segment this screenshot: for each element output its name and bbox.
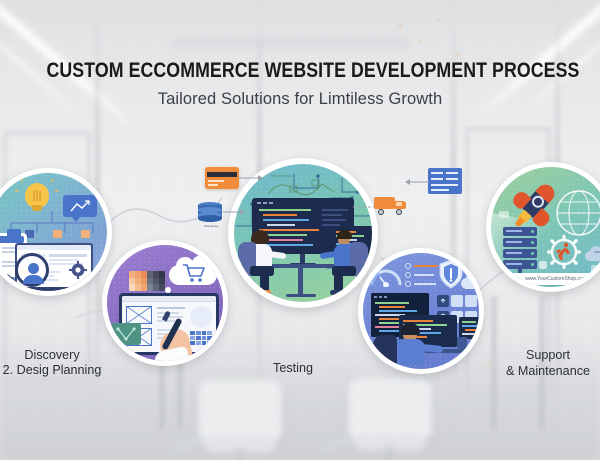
design-planning-illustration [107, 245, 223, 361]
small-tile-icon [591, 265, 599, 273]
delivery-truck-icon [374, 196, 408, 216]
chart-glyph-icon [69, 199, 91, 213]
website-url-text: www.YourCustomShop.com [525, 276, 587, 282]
tester-hair-icon [400, 323, 420, 335]
label-design-planning: 2. Desig Planning [0, 363, 104, 379]
desk-leg-icon [298, 268, 303, 296]
support-maintenance-illustration: www.YourCustomShop.com [491, 167, 600, 287]
cloud-icon [585, 245, 600, 261]
side-monitor-icon [459, 317, 479, 339]
color-swatch-icon [129, 271, 165, 291]
page-title: CUSTOM ECCOMMERCE WEBSITE DEVELOPMENT PR… [46, 58, 553, 84]
gear-runner-icon [547, 235, 581, 269]
checklist-icon [405, 263, 439, 289]
server-rack-icon [503, 227, 537, 271]
label-support-line-1: Support [498, 348, 598, 364]
cloud-upload-icon [461, 271, 479, 289]
form-card-icon [428, 168, 462, 194]
lightbulb-base-icon [32, 205, 42, 211]
heading-block: CUSTOM ECCOMMERCE WEBSITE DEVELOPMENT PR… [0, 58, 600, 110]
chair-base-icon [236, 292, 258, 295]
step-circle-design-planning[interactable] [102, 240, 228, 366]
desk-foot-icon [286, 294, 316, 297]
page-subtitle: Tailored Solutions for Limtiless Growth [0, 89, 600, 110]
connector-line-truck [352, 202, 376, 212]
label-testing-line-1: Testing [250, 361, 336, 377]
small-tile-icon [499, 211, 509, 218]
magnifier-icon [15, 253, 49, 287]
credit-card-icon [205, 167, 239, 189]
website-url-bar[interactable]: www.YourCustomShop.com [509, 273, 600, 285]
testing-illustration [363, 253, 479, 369]
shield-icon [439, 259, 463, 289]
pen-tool-icon [111, 323, 141, 345]
development-illustration [234, 164, 372, 302]
chat-bubble-icon [63, 195, 97, 217]
step-circle-testing[interactable] [358, 248, 484, 374]
label-discovery-line-1: Discovery [0, 348, 104, 364]
thought-bubble-icon [169, 255, 217, 287]
small-tile-icon [539, 261, 547, 269]
speedometer-icon [369, 265, 403, 287]
step-circle-support-maintenance[interactable]: www.YourCustomShop.com [486, 162, 600, 292]
gear-icon [69, 261, 87, 279]
discovery-illustration [0, 173, 107, 291]
tag-icon [7, 229, 21, 241]
sitemap-node-icon [81, 230, 90, 238]
tester-chair-icon [373, 335, 397, 369]
tester-body-icon [393, 339, 425, 365]
developer-hair-icon [337, 230, 352, 239]
lightbulb-rays-icon [15, 179, 59, 205]
label-support-line-2: & Maintenance [498, 364, 598, 380]
developer-shoe-icon [330, 290, 343, 295]
chat-bubble-tail-icon [71, 216, 81, 222]
developer-shoe-icon [258, 290, 271, 295]
desk-leg-icon [473, 353, 477, 369]
label-discovery: Discovery [0, 348, 104, 364]
label-testing: Testing [250, 361, 336, 377]
connector-arrow-db [222, 206, 246, 218]
connector-arrow-form [402, 176, 430, 188]
database-icon [198, 202, 222, 224]
label-support-maintenance: Support & Maintenance [498, 348, 598, 379]
label-design-planning-line-1: 2. Desig Planning [0, 363, 104, 379]
connector-arrow-card [238, 172, 264, 184]
sitemap-node-icon [53, 230, 62, 238]
database-label-text: Data Storage [190, 225, 232, 228]
coffee-cup-icon [457, 337, 467, 350]
shopping-cart-icon [182, 263, 206, 283]
step-circle-discovery[interactable] [0, 168, 112, 296]
